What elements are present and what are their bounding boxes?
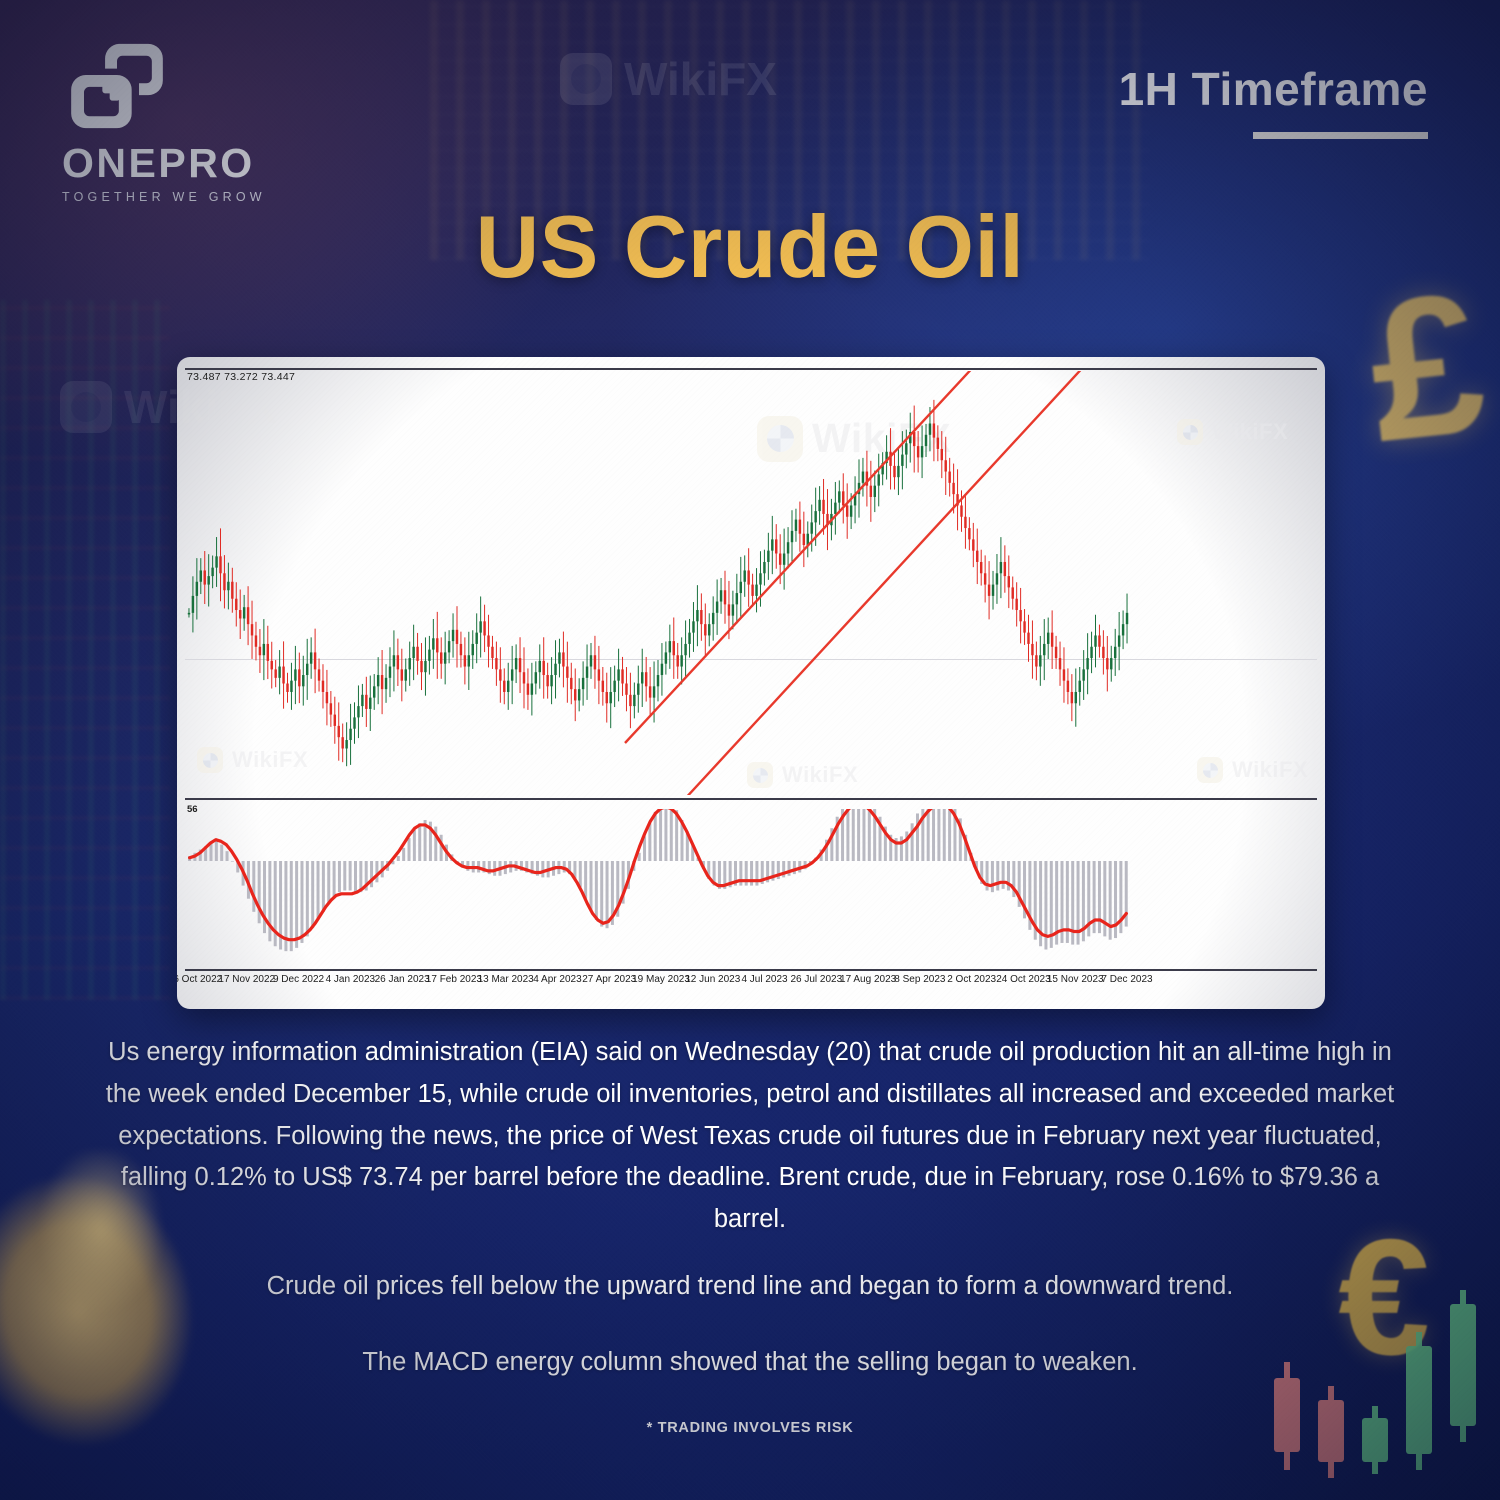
chart-top-border (185, 368, 1317, 370)
risk-disclaimer: * TRADING INVOLVES RISK (0, 1420, 1500, 1436)
x-axis-tick-label: 4 Jan 2023 (326, 974, 376, 985)
decorative-candlesticks (1260, 1270, 1490, 1500)
x-axis-tick-label: 26 Oct 2022 (177, 974, 222, 985)
x-axis-tick-label: 26 Jul 2023 (790, 974, 842, 985)
analysis-note-macd: The MACD energy column showed that the s… (120, 1348, 1380, 1377)
x-axis-tick-label: 17 Feb 2023 (426, 974, 482, 985)
macd-indicator-chart (177, 809, 1325, 969)
macd-readout: 56 (187, 804, 198, 815)
brand-logo: ONEPRO TOGETHER WE GROW (62, 38, 292, 204)
x-axis-tick-label: 27 Apr 2023 (582, 974, 636, 985)
x-axis-tick-label: 13 Mar 2023 (478, 974, 534, 985)
chart-inner: 73.487 73.272 73.447 WikiFX WikiFX WikiF… (177, 357, 1325, 1009)
x-axis-tick-label: 24 Oct 2023 (996, 974, 1050, 985)
x-axis-tick-label: 15 Nov 2023 (1047, 974, 1104, 985)
x-axis-tick-label: 8 Sep 2023 (894, 974, 945, 985)
chart-card: 73.487 73.272 73.447 WikiFX WikiFX WikiF… (177, 357, 1325, 1009)
x-axis-tick-labels: 26 Oct 202217 Nov 20229 Dec 20224 Jan 20… (177, 974, 1325, 1000)
background-ticker-left (0, 300, 170, 1000)
candlestick-price-chart (177, 371, 1325, 795)
x-axis-tick-label: 17 Aug 2023 (840, 974, 896, 985)
wikifx-badge-icon (60, 381, 112, 433)
x-axis-tick-label: 19 May 2023 (632, 974, 690, 985)
poster-root: £ € WikiFX WikiFX ONEP (0, 0, 1500, 1500)
x-axis-tick-label: 17 Nov 2022 (218, 974, 275, 985)
panel-divider (185, 798, 1317, 800)
x-axis-tick-label: 2 Oct 2023 (947, 974, 996, 985)
poster-watermark: WikiFX (560, 52, 777, 106)
x-axis-tick-label: 4 Apr 2023 (533, 974, 581, 985)
chart-axis-line (185, 969, 1317, 971)
x-axis-tick-label: 12 Jun 2023 (685, 974, 740, 985)
wikifx-badge-icon (560, 53, 612, 105)
x-axis-tick-label: 7 Dec 2023 (1101, 974, 1152, 985)
price-readout: 73.487 73.272 73.447 (187, 371, 295, 383)
timeframe-underline (1253, 132, 1428, 139)
onepro-logo-icon (62, 38, 172, 134)
poster-watermark-text: WikiFX (624, 52, 777, 106)
article-paragraph: Us energy information administration (EI… (95, 1032, 1405, 1241)
x-axis-tick-label: 9 Dec 2022 (273, 974, 324, 985)
x-axis-tick-label: 26 Jan 2023 (375, 974, 430, 985)
analysis-note-trendline: Crude oil prices fell below the upward t… (120, 1272, 1380, 1301)
timeframe-label: 1H Timeframe (1119, 62, 1428, 116)
brand-name: ONEPRO (62, 140, 292, 187)
page-title: US Crude Oil (0, 196, 1500, 298)
x-axis-tick-label: 4 Jul 2023 (741, 974, 787, 985)
timeframe-block: 1H Timeframe (1119, 62, 1428, 139)
